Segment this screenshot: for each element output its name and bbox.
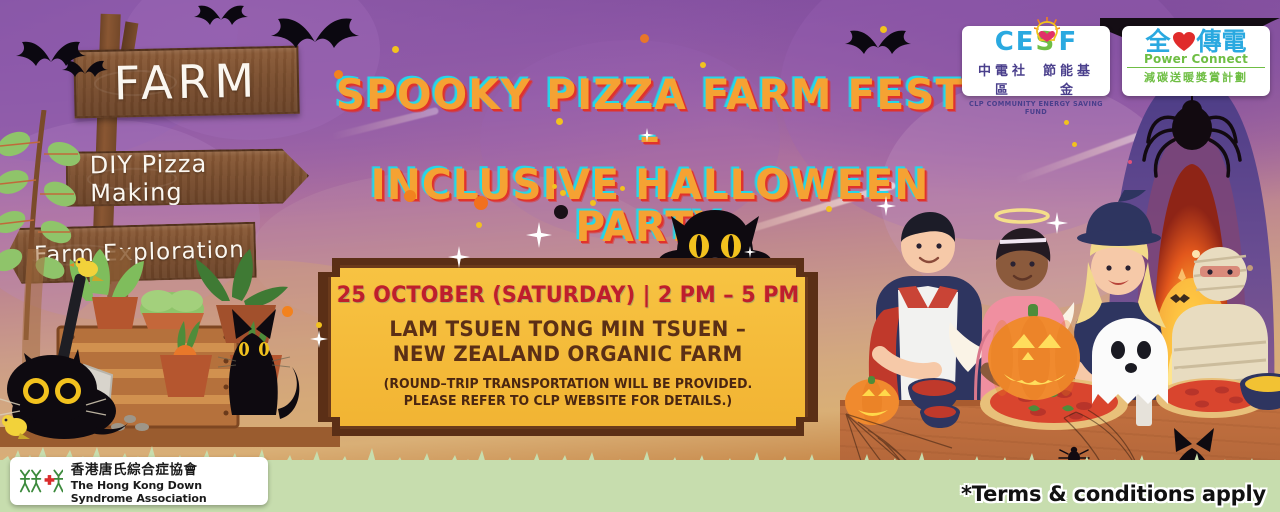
sign-plank-label: FARM xyxy=(113,53,259,110)
confetti-dot xyxy=(590,200,596,206)
bat-icon xyxy=(56,56,114,82)
power-connect-chinese: 全 傳電 xyxy=(1127,29,1265,54)
confetti-dot xyxy=(1072,142,1077,147)
cesf-letter-e: E xyxy=(1016,29,1035,55)
confetti-dot xyxy=(1128,160,1132,164)
confetti-dot xyxy=(316,322,322,328)
confetti-dot xyxy=(552,184,557,189)
logo-hkdsa: 香港唐氏綜合症協會 The Hong Kong Down Syndrome As… xyxy=(10,457,268,505)
cesf-chinese-right: 節能基金 xyxy=(1036,60,1101,98)
cesf-letter-c: C xyxy=(995,29,1015,55)
confetti-dot xyxy=(476,222,482,228)
confetti-dot xyxy=(556,118,563,125)
pc-chinese-2: 傳電 xyxy=(1197,29,1247,54)
cesf-letter-f: F xyxy=(1059,29,1078,55)
confetti-dot xyxy=(700,62,706,68)
lightbulb-heart-icon xyxy=(1034,17,1060,47)
confetti-dot xyxy=(1064,120,1069,125)
cesf-chinese: 中電社區 節能基金 xyxy=(967,60,1105,98)
hkdsa-chinese: 香港唐氏綜合症協會 xyxy=(71,458,260,478)
note-line-1: (ROUND–TRIP TRANSPORTATION WILL BE PROVI… xyxy=(384,377,753,394)
bat-icon xyxy=(836,24,920,60)
jack-o-lantern-icon xyxy=(988,304,1080,400)
confetti-dot xyxy=(880,26,887,33)
confetti-dot xyxy=(620,186,625,191)
event-venue: LAM TSUEN TONG MIN TSUEN – NEW ZEALAND O… xyxy=(390,317,747,366)
red-cross-icon xyxy=(45,475,55,485)
event-date-time: 25 OCTOBER (SATURDAY) | 2 PM – 5 PM xyxy=(337,283,800,308)
sign-plank-label: DIY Pizza Making xyxy=(90,148,308,207)
confetti-dot xyxy=(554,205,568,219)
power-connect-tagline: 減碳送暖獎賞計劃 xyxy=(1127,67,1265,85)
bat-icon xyxy=(260,10,370,56)
confetti-dot xyxy=(334,70,343,79)
pc-chinese-1: 全 xyxy=(1145,29,1170,54)
confetti-dot xyxy=(404,190,416,202)
venue-line-2: NEW ZEALAND ORGANIC FARM xyxy=(390,342,747,366)
cesf-acronym: C E S F xyxy=(967,29,1105,55)
terms-and-conditions-note: *Terms & conditions apply xyxy=(961,482,1266,506)
hkdsa-figures-icon xyxy=(18,464,63,498)
cesf-chinese-left: 中電社區 xyxy=(971,60,1036,98)
venue-line-1: LAM TSUEN TONG MIN TSUEN – xyxy=(390,317,747,341)
event-details-sign: 25 OCTOBER (SATURDAY) | 2 PM – 5 PM LAM … xyxy=(318,258,818,436)
cesf-english: CLP COMMUNITY ENERGY SAVING FUND xyxy=(967,100,1105,116)
heart-icon xyxy=(1173,32,1195,52)
confetti-dot xyxy=(392,46,399,53)
event-note: (ROUND–TRIP TRANSPORTATION WILL BE PROVI… xyxy=(384,377,753,411)
note-line-2: PLEASE REFER TO CLP WEBSITE FOR DETAILS.… xyxy=(384,394,753,411)
confetti-dot xyxy=(282,306,293,317)
ghost-icon xyxy=(1092,318,1168,404)
confetti-dot xyxy=(474,196,488,210)
logo-cesf: C E S F 中電社區 節能基金 xyxy=(962,26,1110,96)
power-connect-english: Power Connect xyxy=(1127,52,1265,66)
confetti-dot xyxy=(560,190,566,196)
hkdsa-english: The Hong Kong Down Syndrome Association xyxy=(71,479,260,505)
confetti-dot xyxy=(826,206,832,212)
bat-icon xyxy=(186,0,256,30)
halloween-event-banner: FARM DIY Pizza Making Farm Exploration xyxy=(0,0,1280,512)
comet-streak-icon xyxy=(331,107,439,140)
logo-power-connect: 全 傳電 Power Connect 減碳送暖獎賞計劃 xyxy=(1122,26,1270,96)
potted-succulent xyxy=(140,290,204,329)
pumpkin-and-ghost xyxy=(980,300,1200,410)
confetti-dot xyxy=(640,34,649,43)
